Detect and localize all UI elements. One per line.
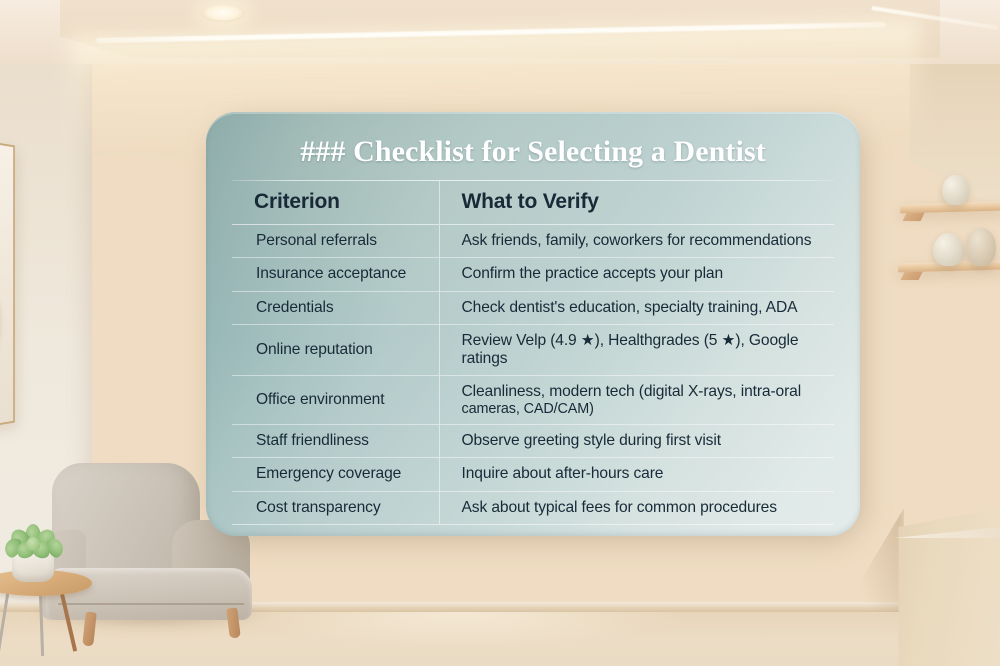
column-header-criterion: Criterion bbox=[232, 181, 439, 225]
cell-criterion: Staff friendliness bbox=[232, 425, 439, 458]
ceiling-downlight bbox=[201, 5, 245, 22]
checklist-board: ### Checklist for Selecting a Dentist Cr… bbox=[206, 112, 860, 536]
ceramic-vase-small bbox=[942, 175, 969, 205]
framed-wall-art bbox=[0, 140, 15, 428]
cell-criterion: Cost transparency bbox=[232, 491, 439, 524]
waiting-room-scene: ### Checklist for Selecting a Dentist Cr… bbox=[0, 0, 1000, 666]
cell-criterion: Emergency coverage bbox=[232, 458, 439, 491]
potted-succulent bbox=[3, 524, 65, 560]
table-row: Cost transparency Ask about typical fees… bbox=[232, 491, 834, 524]
cell-verify: Review Velp (4.9 ★), Healthgrades (5 ★),… bbox=[439, 324, 834, 375]
table-header-row: Criterion What to Verify bbox=[232, 181, 834, 225]
cell-verify: Cleanliness, modern tech (digital X-rays… bbox=[439, 375, 834, 425]
ceramic-vase-round bbox=[933, 233, 964, 266]
board-footer-note: *Result: A practice that meets both prac… bbox=[232, 534, 834, 536]
cell-verify-line1: Cleanliness, modern tech (digital X-rays… bbox=[462, 383, 802, 400]
cell-verify: Ask about typical fees for common proced… bbox=[439, 491, 834, 524]
cell-criterion: Personal referrals bbox=[232, 225, 439, 258]
table-row: Online reputation Review Velp (4.9 ★), H… bbox=[232, 324, 834, 375]
board-title: ### Checklist for Selecting a Dentist bbox=[232, 132, 834, 180]
cell-verify: Ask friends, family, coworkers for recom… bbox=[439, 225, 834, 258]
wall-art-detail bbox=[0, 302, 3, 354]
table-row: Insurance acceptance Confirm the practic… bbox=[232, 258, 834, 291]
cell-verify: Confirm the practice accepts your plan bbox=[439, 258, 834, 291]
column-header-verify: What to Verify bbox=[439, 181, 834, 225]
ceramic-vase-tall bbox=[966, 228, 996, 266]
table-row: Credentials Check dentist's education, s… bbox=[232, 291, 834, 324]
footer-part1: A practice that meets both bbox=[325, 535, 503, 536]
table-row: Staff friendliness Observe greeting styl… bbox=[232, 425, 834, 458]
footer-faded-text: practical and professional bbox=[503, 535, 671, 536]
cell-verify: Observe greeting style during first visi… bbox=[439, 425, 834, 458]
footer-lead: *Result: bbox=[269, 535, 325, 536]
table-row: Emergency coverage Inquire about after-h… bbox=[232, 458, 834, 491]
checklist-table: Criterion What to Verify Personal referr… bbox=[232, 181, 834, 524]
cell-verify-line2: cameras, CAD/CAM) bbox=[462, 402, 825, 418]
cell-criterion: Insurance acceptance bbox=[232, 258, 439, 291]
table-row: Office environment Cleanliness, modern t… bbox=[232, 375, 834, 425]
cell-criterion: Credentials bbox=[232, 291, 439, 324]
cell-criterion: Office environment bbox=[232, 375, 439, 425]
cell-verify: Inquire about after-hours care bbox=[439, 458, 834, 491]
cell-criterion: Online reputation bbox=[232, 324, 439, 375]
table-row: Personal referrals Ask friends, family, … bbox=[232, 225, 834, 258]
cell-verify: Check dentist's education, specialty tra… bbox=[439, 291, 834, 324]
armchair-seam bbox=[58, 603, 244, 605]
